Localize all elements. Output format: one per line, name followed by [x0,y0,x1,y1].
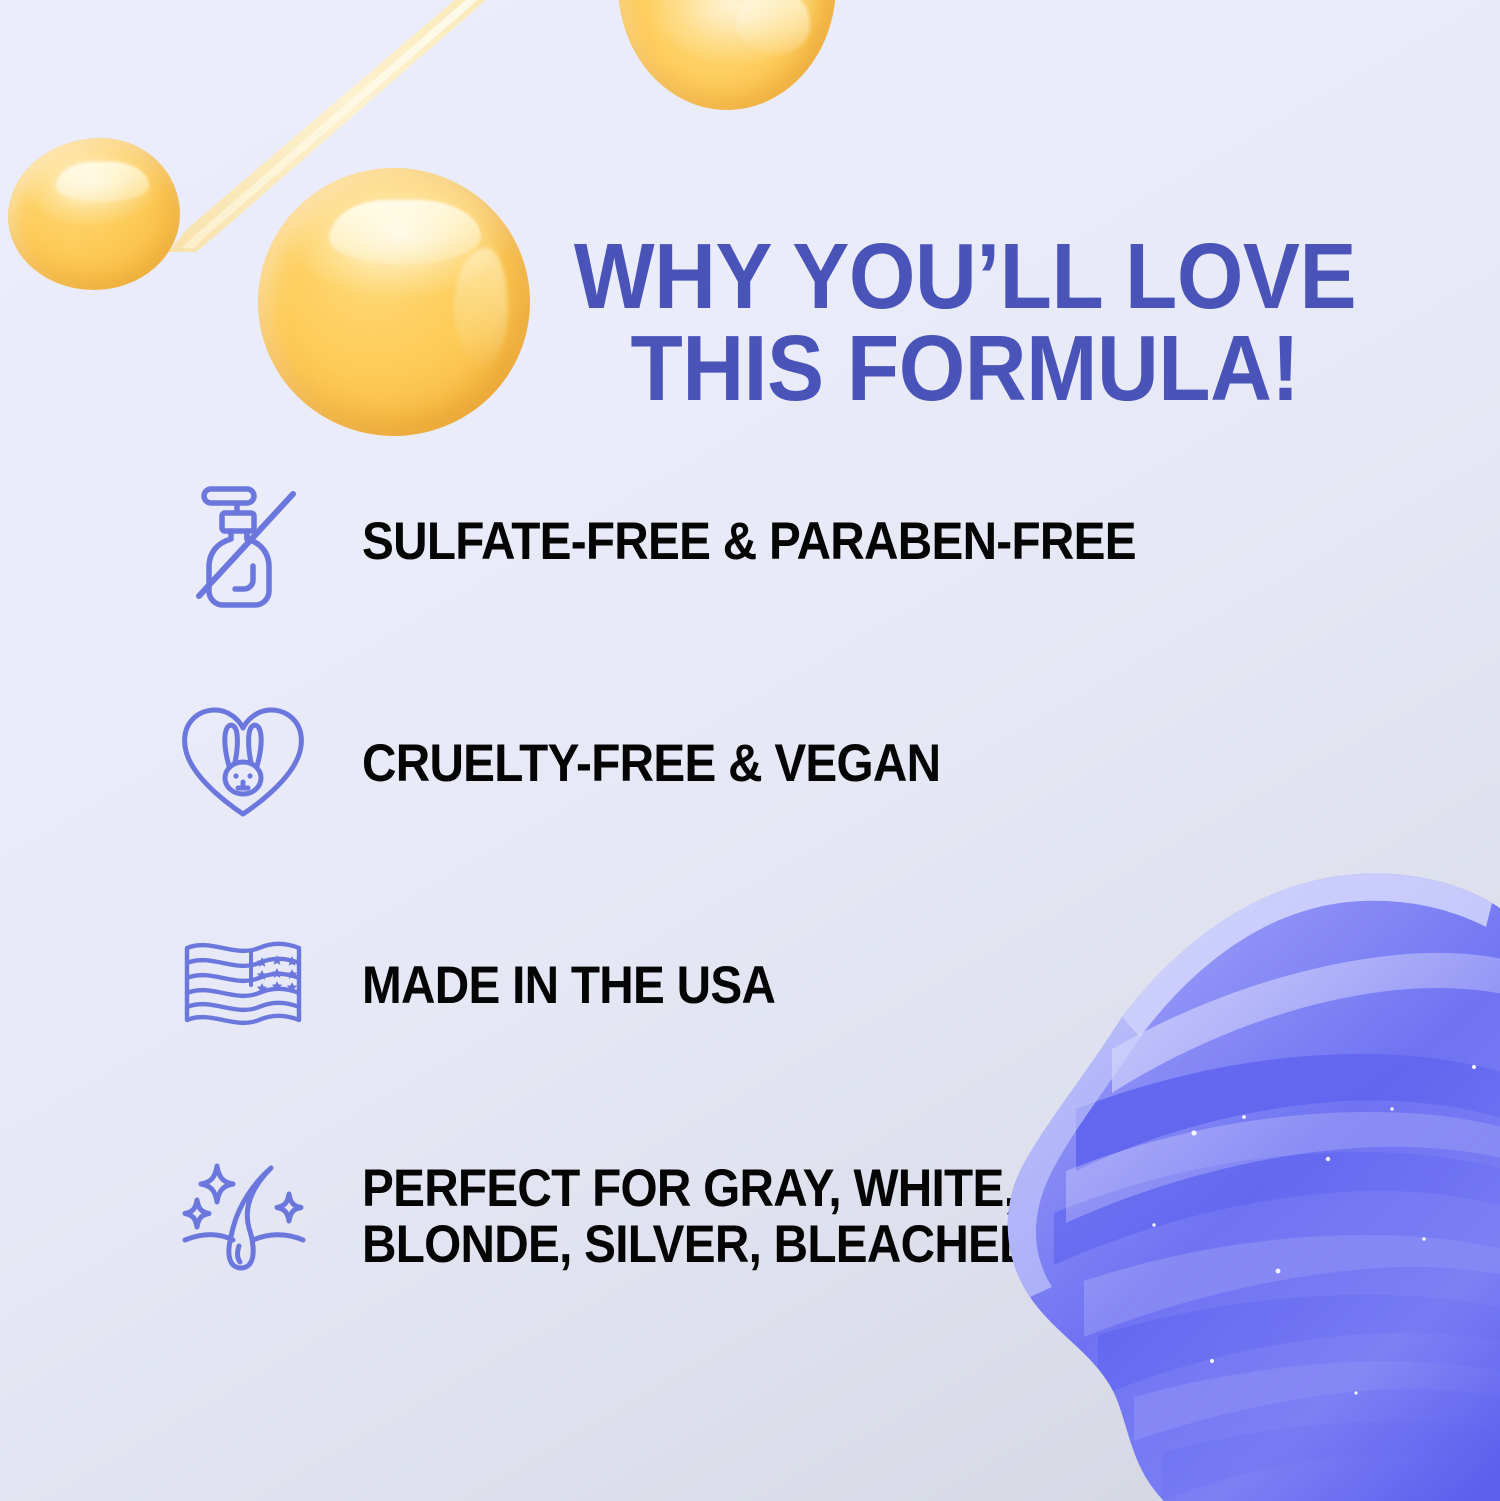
feature-label: SULFATE-FREE & PARABEN-FREE [362,514,1386,570]
honey-drizzle-stream [60,0,530,260]
feature-row: MADE IN THE USA [0,910,1500,1062]
feature-label: PERFECT FOR GRAY, WHITE, BLONDE, SILVER,… [362,1161,1386,1273]
cruelty-free-bunny-heart-icon [168,702,318,826]
feature-row: CRUELTY-FREE & VEGAN [0,688,1500,840]
feature-list: SULFATE-FREE & PARABEN-FREE CRUELTY-FREE… [0,466,1500,1302]
usa-flag-icon [168,932,318,1040]
infographic-canvas: WHY YOU’LL LOVE THIS FORMULA! SULFATE-FR… [0,0,1500,1501]
feature-label: MADE IN THE USA [362,958,1386,1014]
feature-row: PERFECT FOR GRAY, WHITE, BLONDE, SILVER,… [0,1132,1500,1302]
honey-droplet-top [618,0,836,110]
page-title: WHY YOU’LL LOVE THIS FORMULA! [537,230,1393,414]
no-sulfate-bottle-icon [168,476,318,608]
feature-label: CRUELTY-FREE & VEGAN [362,736,1386,792]
feature-row: SULFATE-FREE & PARABEN-FREE [0,466,1500,618]
hair-follicle-sparkle-icon [168,1154,318,1280]
